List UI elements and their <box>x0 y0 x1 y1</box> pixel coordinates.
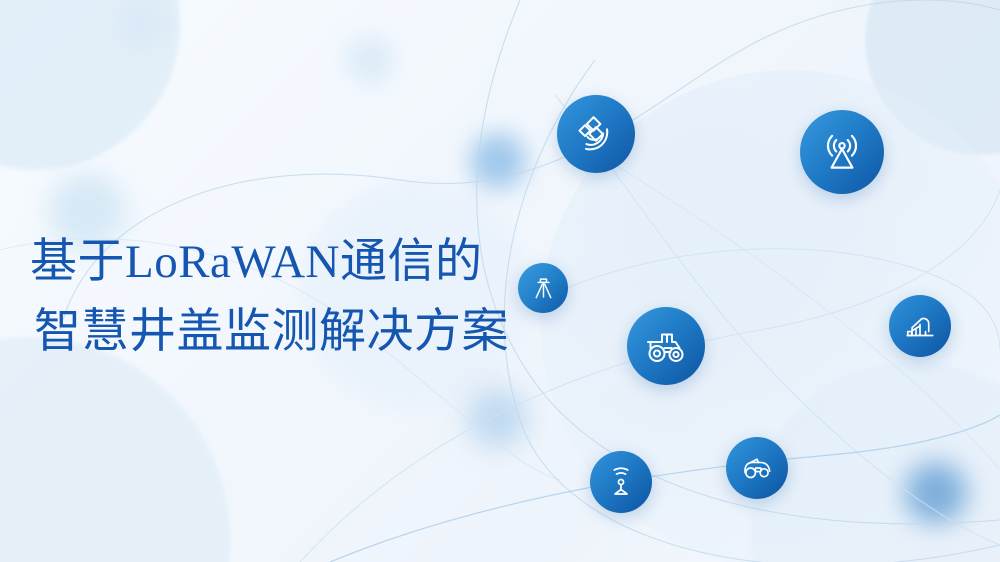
soft-dot-upper-center <box>345 35 395 85</box>
soft-dot-center <box>470 133 526 189</box>
node-satellite[interactable] <box>557 95 635 173</box>
node-rover[interactable] <box>726 437 788 499</box>
slide-title: 基于LoRaWAN通信的 智慧井盖监测解决方案 <box>30 228 590 367</box>
wireless-sensor-icon <box>603 464 639 500</box>
soft-dot-lower-center <box>467 388 527 448</box>
radio-tower-icon <box>817 127 867 177</box>
node-pumpjack[interactable] <box>889 295 951 357</box>
soft-dot-top <box>118 0 164 46</box>
tractor-icon <box>642 322 690 370</box>
title-line-2: 智慧井盖监测解决方案 <box>30 298 590 368</box>
presentation-slide: 基于LoRaWAN通信的 智慧井盖监测解决方案 <box>0 0 1000 562</box>
oil-pumpjack-icon <box>901 307 939 345</box>
title-line-1: 基于LoRaWAN通信的 <box>30 228 590 298</box>
bottom-left-blob <box>0 337 230 562</box>
node-antenna[interactable] <box>800 110 884 194</box>
satellite-dish-icon <box>573 111 619 157</box>
soft-dot-bottom-right <box>905 462 967 524</box>
robot-mower-icon <box>738 449 776 487</box>
node-sensor[interactable] <box>590 451 652 513</box>
top-left-blob <box>0 0 180 170</box>
top-right-blob <box>865 0 1000 155</box>
node-tractor[interactable] <box>627 307 705 385</box>
